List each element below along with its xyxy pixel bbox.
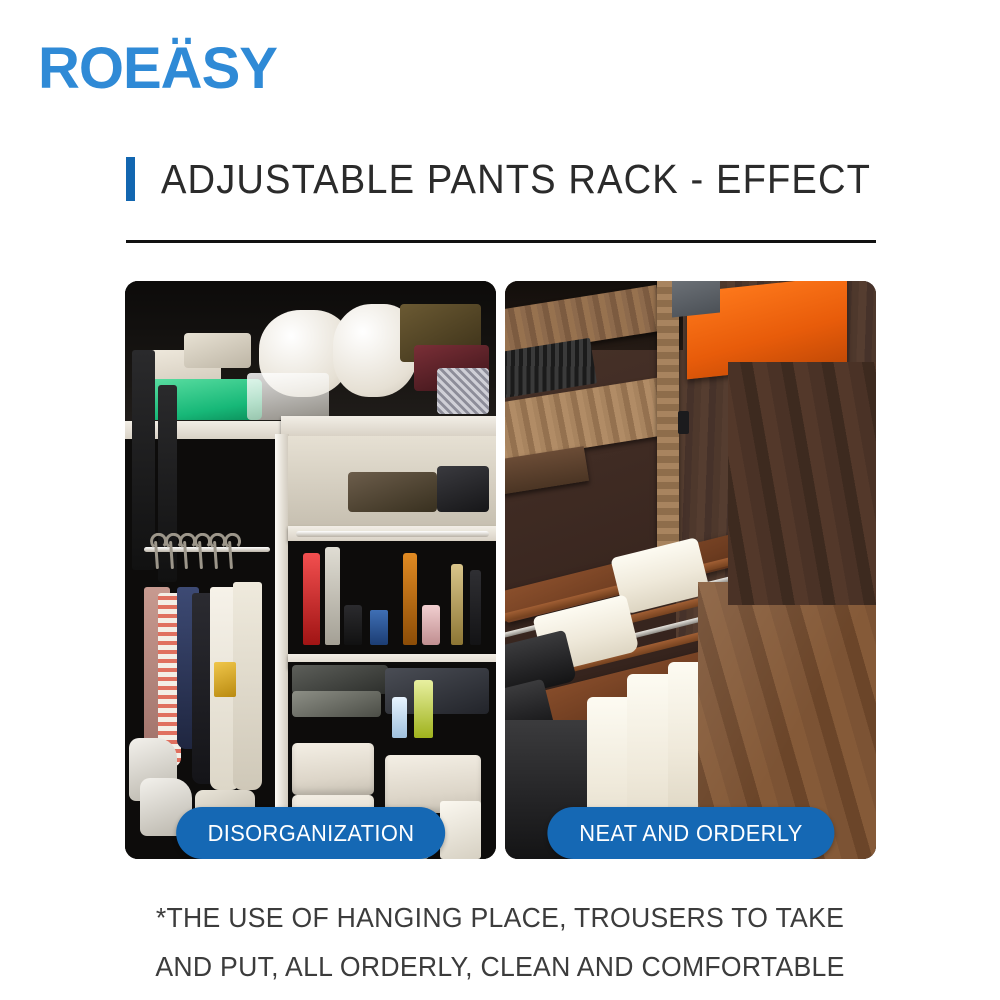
- footer-caption: *THE USE OF HANGING PLACE, TROUSERS TO T…: [0, 893, 1000, 991]
- page-title: ADJUSTABLE PANTS RACK - EFFECT: [161, 156, 871, 203]
- messy-closet-image: [125, 281, 496, 859]
- badge-disorganization-label: DISORGANIZATION: [207, 820, 414, 847]
- brand-logo-text: ROEÄSY: [38, 40, 277, 98]
- brand-logo: ROEÄSY: [38, 38, 358, 100]
- badge-neat-and-orderly-label: NEAT AND ORDERLY: [579, 820, 802, 847]
- comparison-panel-before: DISORGANIZATION: [125, 281, 496, 859]
- badge-neat-and-orderly: NEAT AND ORDERLY: [547, 807, 834, 859]
- footer-caption-line-2: AND PUT, ALL ORDERLY, CLEAN AND COMFORTA…: [25, 942, 975, 991]
- header-divider: [126, 240, 876, 243]
- comparison-panels: DISORGANIZATION: [125, 281, 876, 859]
- page-title-row: ADJUSTABLE PANTS RACK - EFFECT: [126, 152, 924, 206]
- pants-rack-image: [505, 281, 876, 859]
- title-accent-bar: [126, 157, 135, 201]
- footer-caption-line-1: *THE USE OF HANGING PLACE, TROUSERS TO T…: [25, 893, 975, 942]
- comparison-panel-after: NEAT AND ORDERLY: [505, 281, 876, 859]
- badge-disorganization: DISORGANIZATION: [176, 807, 446, 859]
